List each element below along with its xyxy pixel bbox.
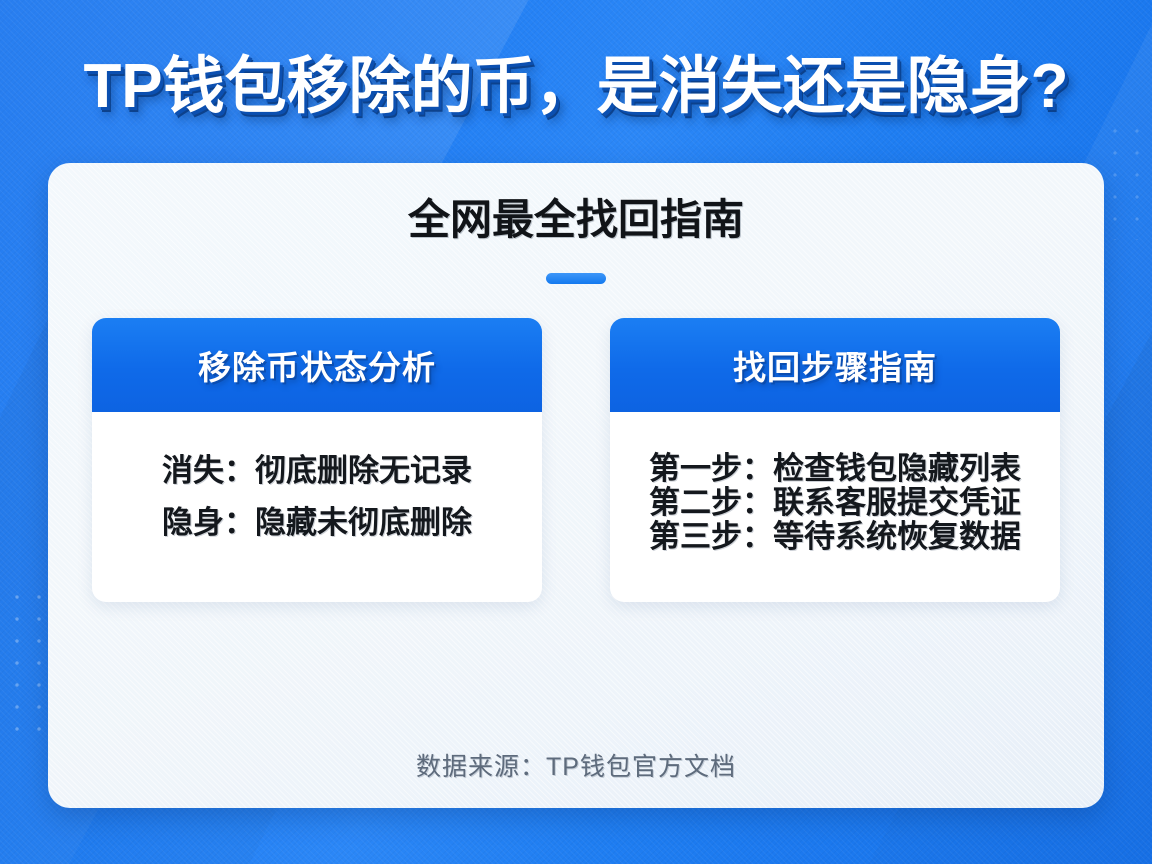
data-source-note: 数据来源：TP钱包官方文档: [48, 747, 1104, 783]
list-item: 第二步：联系客服提交凭证: [632, 486, 1038, 520]
list-item: 第三步：等待系统恢复数据: [632, 520, 1038, 554]
card-status-analysis: 移除币状态分析 消失：彻底删除无记录 隐身：隐藏未彻底删除: [92, 318, 542, 602]
content-panel: 全网最全找回指南 移除币状态分析 消失：彻底删除无记录 隐身：隐藏未彻底删除 找…: [48, 163, 1104, 808]
card-header-label: 移除币状态分析: [198, 341, 436, 389]
card-body-status-analysis: 消失：彻底删除无记录 隐身：隐藏未彻底删除: [92, 412, 542, 602]
list-item: 消失：彻底删除无记录: [114, 454, 520, 488]
panel-title: 全网最全找回指南: [48, 199, 1104, 241]
list-item: 第一步：检查钱包隐藏列表: [632, 452, 1038, 486]
dot-grid-decoration-right: [1104, 120, 1148, 240]
dot-grid-decoration-left: [6, 586, 52, 736]
card-header-label: 找回步骤指南: [733, 341, 937, 389]
title-underline-rule: [546, 273, 606, 284]
card-recovery-steps: 找回步骤指南 第一步：检查钱包隐藏列表 第二步：联系客服提交凭证 第三步：等待系…: [610, 318, 1060, 602]
page-headline: TP钱包移除的币，是消失还是隐身?: [0, 56, 1152, 118]
list-item: 隐身：隐藏未彻底删除: [114, 506, 520, 540]
card-header-status-analysis: 移除币状态分析: [92, 318, 542, 412]
poster-canvas: TP钱包移除的币，是消失还是隐身? 全网最全找回指南 移除币状态分析 消失：彻底…: [0, 0, 1152, 864]
card-row: 移除币状态分析 消失：彻底删除无记录 隐身：隐藏未彻底删除 找回步骤指南 第一步…: [92, 318, 1060, 602]
card-body-recovery-steps: 第一步：检查钱包隐藏列表 第二步：联系客服提交凭证 第三步：等待系统恢复数据: [610, 412, 1060, 602]
card-header-recovery-steps: 找回步骤指南: [610, 318, 1060, 412]
